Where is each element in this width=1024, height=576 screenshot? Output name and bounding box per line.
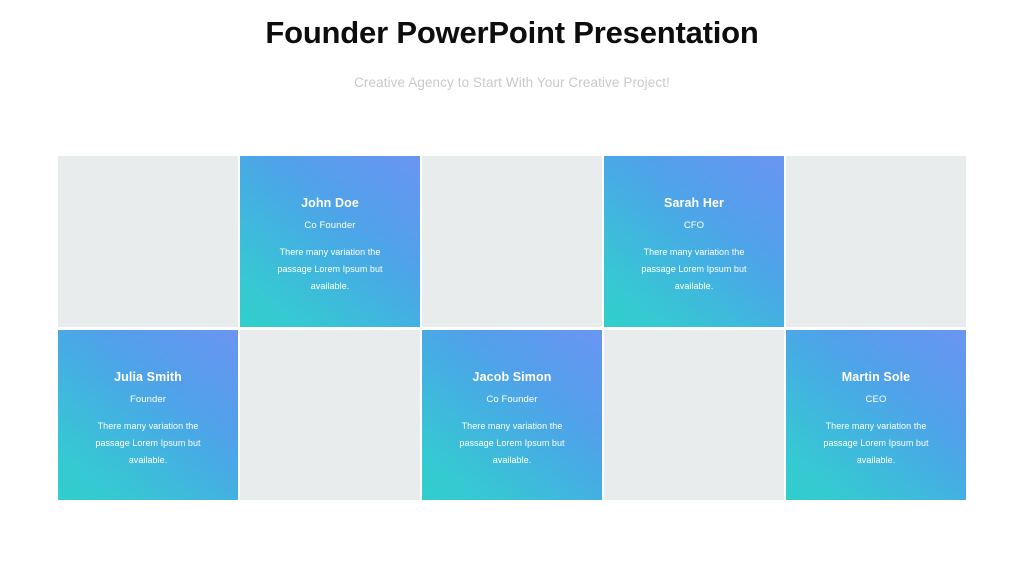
member-role: Co Founder bbox=[304, 220, 355, 232]
member-role: Founder bbox=[130, 394, 166, 406]
member-name: John Doe bbox=[301, 196, 359, 211]
member-name: Julia Smith bbox=[114, 370, 182, 385]
team-card-john-doe[interactable]: John DoeCo FounderThere many variation t… bbox=[240, 156, 420, 327]
page-subtitle: Creative Agency to Start With Your Creat… bbox=[0, 52, 1024, 92]
team-grid: John DoeCo FounderThere many variation t… bbox=[58, 156, 966, 500]
member-bio: There many variation the passage Lorem I… bbox=[81, 418, 215, 469]
presentation-slide: Founder PowerPoint Presentation Creative… bbox=[0, 0, 1024, 576]
team-card-julia-smith[interactable]: Julia SmithFounderThere many variation t… bbox=[58, 330, 238, 501]
slide-header: Founder PowerPoint Presentation Creative… bbox=[0, 0, 1024, 92]
empty-cell-r2c2 bbox=[240, 330, 420, 501]
team-card-sarah-her[interactable]: Sarah HerCFOThere many variation the pas… bbox=[604, 156, 784, 327]
empty-cell-r1c1 bbox=[58, 156, 238, 327]
member-name: Jacob Simon bbox=[473, 370, 552, 385]
member-bio: There many variation the passage Lorem I… bbox=[809, 418, 943, 469]
member-bio: There many variation the passage Lorem I… bbox=[263, 244, 397, 295]
member-bio: There many variation the passage Lorem I… bbox=[445, 418, 579, 469]
team-card-martin-sole[interactable]: Martin SoleCEOThere many variation the p… bbox=[786, 330, 966, 501]
empty-cell-r1c5 bbox=[786, 156, 966, 327]
member-role: CEO bbox=[866, 394, 887, 406]
member-role: Co Founder bbox=[486, 394, 537, 406]
empty-cell-r2c4 bbox=[604, 330, 784, 501]
member-bio: There many variation the passage Lorem I… bbox=[627, 244, 761, 295]
page-title: Founder PowerPoint Presentation bbox=[0, 0, 1024, 52]
member-name: Sarah Her bbox=[664, 196, 724, 211]
member-role: CFO bbox=[684, 220, 704, 232]
team-card-jacob-simon[interactable]: Jacob SimonCo FounderThere many variatio… bbox=[422, 330, 602, 501]
empty-cell-r1c3 bbox=[422, 156, 602, 327]
member-name: Martin Sole bbox=[842, 370, 910, 385]
